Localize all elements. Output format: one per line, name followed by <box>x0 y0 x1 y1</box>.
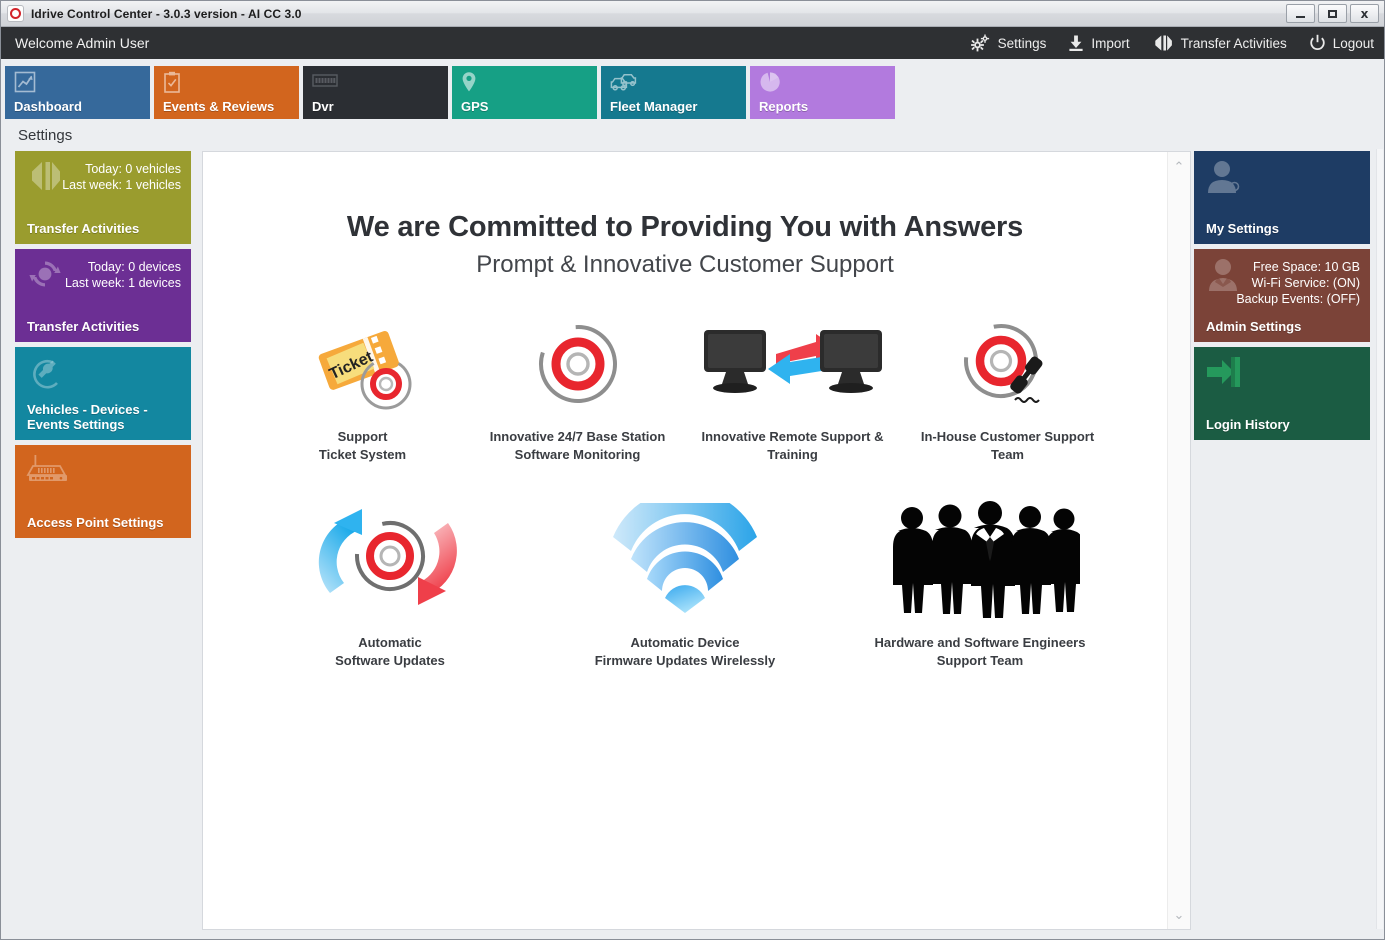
login-door-icon <box>1205 355 1243 394</box>
feature-hardware-software-engineers: Hardware and Software Engineers Support … <box>873 500 1088 670</box>
header-import-button[interactable]: Import <box>1068 34 1129 52</box>
wifi-signal-icon <box>605 500 765 620</box>
power-icon <box>1309 34 1326 52</box>
team-silhouette-icon <box>880 500 1080 620</box>
header-import-label: Import <box>1091 36 1129 51</box>
tile-stat-line: Wi-Fi Service: (ON) <box>1236 275 1360 291</box>
clipboard-check-icon <box>163 71 299 93</box>
title-bar: Idrive Control Center - 3.0.3 version - … <box>1 1 1384 27</box>
application-window: Idrive Control Center - 3.0.3 version - … <box>0 0 1385 940</box>
tile-stats: Today: 0 vehicles Last week: 1 vehicles <box>62 161 181 193</box>
sync-circle-icon <box>26 257 64 296</box>
header-settings-button[interactable]: Settings <box>969 34 1047 52</box>
tile-title: Transfer Activities <box>27 319 183 334</box>
tile-device-transfer-activities[interactable]: Today: 0 devices Last week: 1 devices Tr… <box>15 249 191 342</box>
close-button[interactable]: x <box>1350 4 1379 23</box>
feature-in-house-support-team: In-House Customer Support Team <box>900 314 1115 464</box>
feature-caption: Support Ticket System <box>319 428 406 464</box>
feature-caption: Automatic Software Updates <box>335 634 445 670</box>
tab-fleet-manager[interactable]: Fleet Manager <box>601 66 746 119</box>
tile-login-history[interactable]: Login History <box>1194 347 1370 440</box>
feature-base-station-monitoring: Innovative 24/7 Base Station Software Mo… <box>470 314 685 464</box>
window-scrollbar[interactable] <box>1376 149 1383 929</box>
tab-gps-label: GPS <box>461 99 488 114</box>
tile-access-point-settings[interactable]: Access Point Settings <box>15 445 191 538</box>
remote-screens-icon <box>698 314 888 414</box>
target-monitor-icon <box>530 314 626 414</box>
window-controls: x <box>1286 4 1379 23</box>
breadcrumb-label: Settings <box>18 127 72 144</box>
main-panel: We are Committed to Providing You with A… <box>202 151 1191 930</box>
welcome-label: Welcome Admin User <box>15 35 969 51</box>
feature-support-ticket-system: Ticket Support <box>255 314 470 464</box>
header-bar: Welcome Admin User <box>1 27 1384 59</box>
tab-reports-label: Reports <box>759 99 808 114</box>
tile-title: My Settings <box>1206 221 1362 236</box>
window-title: Idrive Control Center - 3.0.3 version - … <box>31 7 1286 21</box>
left-sidebar: Today: 0 vehicles Last week: 1 vehicles … <box>1 151 191 930</box>
download-icon <box>1068 34 1084 52</box>
tile-title: Vehicles - Devices - Events Settings <box>27 402 183 432</box>
header-actions: Settings Import <box>969 34 1374 52</box>
hero-section: We are Committed to Providing You with A… <box>203 210 1167 280</box>
user-icon <box>1205 159 1243 200</box>
tab-dvr-label: Dvr <box>312 99 334 114</box>
transfer-arrows-icon <box>1152 34 1174 52</box>
gears-icon <box>969 34 991 52</box>
feature-automatic-software-updates: Automatic Software Updates <box>283 500 498 670</box>
features-row-1: Ticket Support <box>203 314 1167 464</box>
header-transfer-activities-button[interactable]: Transfer Activities <box>1152 34 1287 52</box>
tile-admin-settings[interactable]: Free Space: 10 GB Wi-Fi Service: (ON) Ba… <box>1194 249 1370 342</box>
pie-chart-icon <box>759 71 895 93</box>
wrench-icon <box>26 355 64 394</box>
chart-growth-icon <box>14 71 150 93</box>
tab-dashboard-label: Dashboard <box>14 99 82 114</box>
page-headline: We are Committed to Providing You with A… <box>203 210 1167 244</box>
tile-stat-line: Today: 0 vehicles <box>62 161 181 177</box>
features-grid: Ticket Support <box>203 314 1167 670</box>
tile-stats: Today: 0 devices Last week: 1 devices <box>65 259 181 291</box>
feature-caption: Hardware and Software Engineers Support … <box>875 634 1086 670</box>
features-row-2: Automatic Software Updates <box>203 500 1167 670</box>
breadcrumb: Settings <box>1 119 1384 151</box>
feature-caption: Innovative Remote Support & Training <box>701 428 883 464</box>
tile-stat-line: Last week: 1 devices <box>65 275 181 291</box>
navigation-tabs: Dashboard Events & Reviews <box>1 59 1384 119</box>
content-scrollbar[interactable]: ⌃ ⌄ <box>1167 152 1190 929</box>
target-phone-icon <box>953 314 1063 414</box>
transfer-arrows-icon <box>26 159 64 198</box>
vehicles-icon <box>610 71 746 93</box>
tile-stat-line: Today: 0 devices <box>65 259 181 275</box>
tile-stats: Free Space: 10 GB Wi-Fi Service: (ON) Ba… <box>1236 259 1360 307</box>
tile-stat-line: Last week: 1 vehicles <box>62 177 181 193</box>
feature-device-firmware-updates: Automatic Device Firmware Updates Wirele… <box>578 500 793 670</box>
header-logout-button[interactable]: Logout <box>1309 34 1374 52</box>
map-pin-icon <box>461 71 597 93</box>
app-target-icon <box>7 5 24 22</box>
tab-gps[interactable]: GPS <box>452 66 597 119</box>
header-transfer-label: Transfer Activities <box>1181 36 1287 51</box>
maximize-button[interactable] <box>1318 4 1347 23</box>
feature-caption: In-House Customer Support Team <box>921 428 1094 464</box>
tile-stat-line: Free Space: 10 GB <box>1236 259 1360 275</box>
tab-dashboard[interactable]: Dashboard <box>5 66 150 119</box>
page-body: Today: 0 vehicles Last week: 1 vehicles … <box>1 151 1384 939</box>
tab-events-reviews-label: Events & Reviews <box>163 99 274 114</box>
support-ticket-icon: Ticket <box>308 314 418 414</box>
tile-vehicles-devices-events-settings[interactable]: Vehicles - Devices - Events Settings <box>15 347 191 440</box>
tab-fleet-manager-label: Fleet Manager <box>610 99 697 114</box>
minimize-button[interactable] <box>1286 4 1315 23</box>
header-settings-label: Settings <box>998 36 1047 51</box>
page-subheadline: Prompt & Innovative Customer Support <box>203 250 1167 280</box>
tile-title: Admin Settings <box>1206 319 1362 334</box>
router-icon <box>26 453 70 492</box>
tile-stat-line: Backup Events: (OFF) <box>1236 291 1360 307</box>
scroll-down-arrow[interactable]: ⌄ <box>1174 908 1185 921</box>
refresh-target-icon <box>300 500 480 620</box>
tile-vehicle-transfer-activities[interactable]: Today: 0 vehicles Last week: 1 vehicles … <box>15 151 191 244</box>
tab-reports[interactable]: Reports <box>750 66 895 119</box>
tab-events-reviews[interactable]: Events & Reviews <box>154 66 299 119</box>
tile-title: Access Point Settings <box>27 515 183 530</box>
header-logout-label: Logout <box>1333 36 1374 51</box>
main-content: We are Committed to Providing You with A… <box>203 152 1167 929</box>
tile-title: Login History <box>1206 417 1362 432</box>
feature-caption: Innovative 24/7 Base Station Software Mo… <box>490 428 666 464</box>
feature-caption: Automatic Device Firmware Updates Wirele… <box>595 634 776 670</box>
tab-dvr[interactable]: Dvr <box>303 66 448 119</box>
tile-my-settings[interactable]: My Settings <box>1194 151 1370 244</box>
tile-title: Transfer Activities <box>27 221 183 236</box>
scroll-up-arrow[interactable]: ⌃ <box>1174 160 1185 173</box>
right-sidebar: My Settings Free Space: 10 GB Wi-Fi Serv… <box>1194 151 1384 930</box>
dvr-device-icon <box>312 71 448 93</box>
feature-remote-support-training: Innovative Remote Support & Training <box>685 314 900 464</box>
